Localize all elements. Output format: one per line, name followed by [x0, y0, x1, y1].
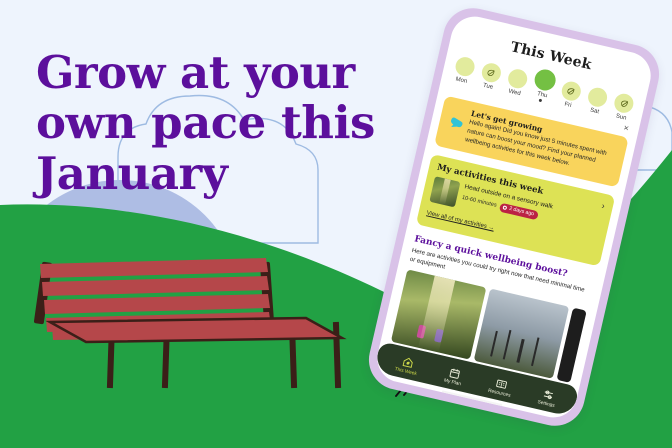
day-sun[interactable]: Sun [610, 92, 638, 123]
activity-thumbnail [429, 176, 460, 207]
day-tue[interactable]: Tue [477, 61, 505, 92]
day-thu[interactable]: Thu [530, 67, 559, 104]
nav-label: This Week [394, 367, 417, 377]
speech-bubble-icon [443, 106, 465, 143]
day-circle [480, 61, 503, 84]
day-circle [453, 55, 476, 78]
leaf-icon [620, 99, 630, 109]
fence-post [531, 337, 540, 366]
day-circle-active [533, 68, 558, 93]
fence-post [490, 331, 498, 357]
leaf-icon [566, 86, 576, 96]
day-wed[interactable]: Wed [503, 67, 531, 98]
page-title: Grow at your own pace this January [36, 48, 406, 199]
headline-line-3: January [36, 149, 406, 199]
sliders-icon [542, 388, 555, 401]
day-fri[interactable]: Fri [556, 79, 584, 110]
nav-item-resources[interactable]: Resources [487, 376, 513, 399]
nav-item-settings[interactable]: Settings [537, 387, 558, 408]
day-label: Thu [531, 90, 554, 101]
day-circle [613, 92, 636, 115]
day-circle [506, 67, 529, 90]
calendar-icon [448, 366, 461, 379]
day-circle [586, 86, 609, 109]
chevron-right-icon[interactable]: › [601, 201, 606, 211]
walker-figure-1 [417, 324, 427, 338]
day-circle [560, 80, 583, 103]
poster-canvas: Grow at your own pace this January This … [0, 0, 672, 448]
today-indicator-dot [539, 99, 543, 103]
day-mon[interactable]: Mon [450, 55, 478, 86]
walker-figure-2 [434, 328, 444, 342]
headline-line-1: Grow at your [36, 48, 406, 98]
headline-line-2: own pace this [36, 98, 406, 148]
close-icon[interactable]: × [623, 123, 630, 133]
day-sat[interactable]: Sat [583, 86, 611, 117]
clock-icon [503, 206, 508, 211]
home-leaf-icon [401, 355, 414, 368]
fence-post [502, 330, 511, 360]
badge-label: 2 days ago [508, 206, 534, 218]
nav-item-my-plan[interactable]: My Plan [443, 365, 464, 386]
leaf-icon [486, 68, 496, 78]
book-icon [495, 377, 508, 390]
fence-post [517, 339, 525, 363]
nav-label: Resources [487, 388, 510, 398]
nav-item-this-week[interactable]: This Week [394, 354, 420, 377]
view-all-activities-link[interactable]: View all of my activities → [426, 210, 495, 231]
